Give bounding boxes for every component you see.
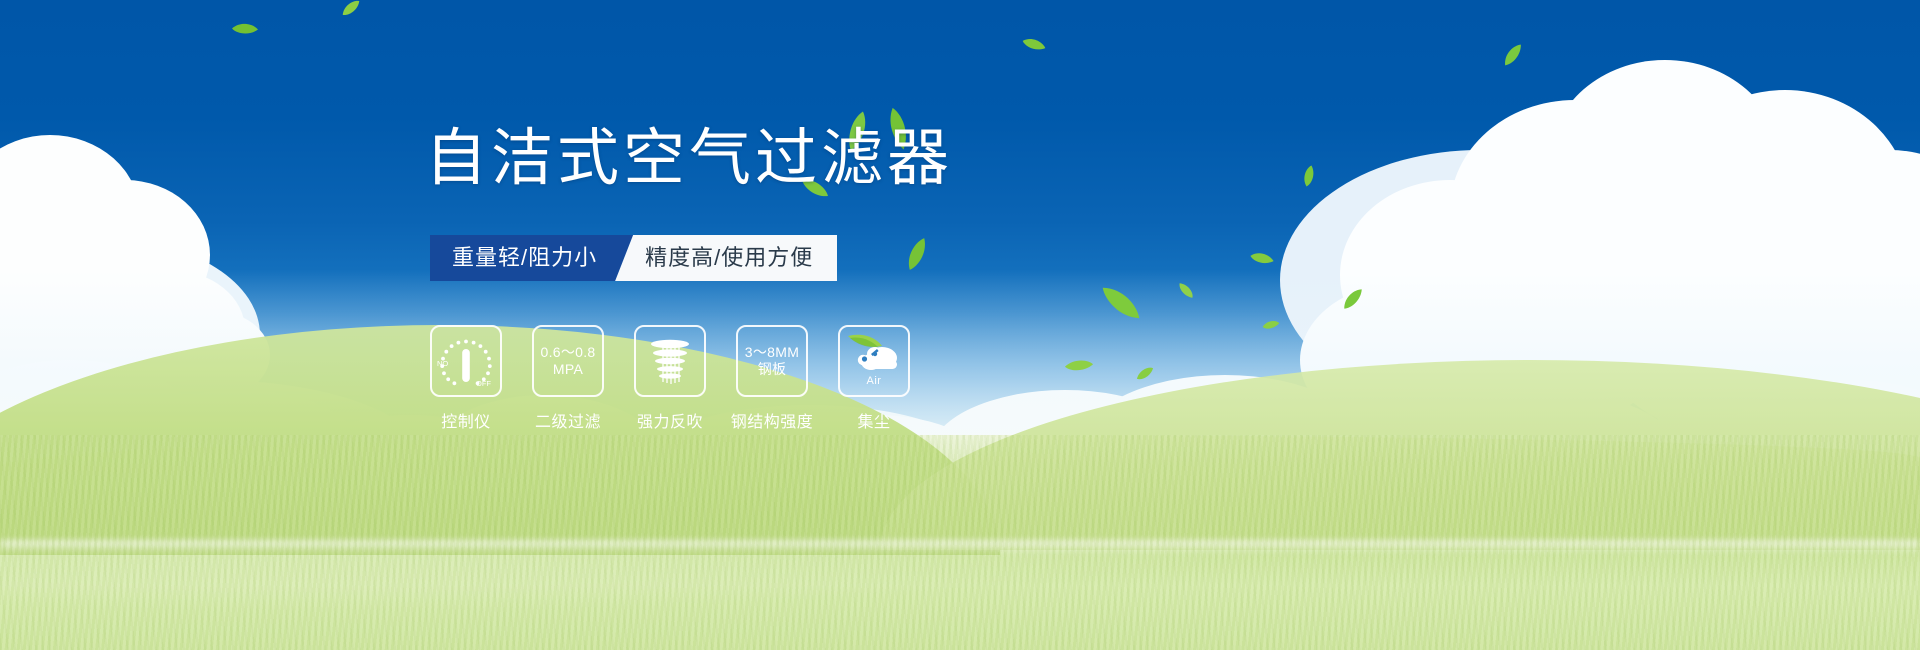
steel-thickness: 3～8MM bbox=[745, 344, 799, 361]
feature-item-pressure[interactable]: 0.6～0.8 MPA 二级过滤 bbox=[532, 325, 604, 432]
feature-item-dust[interactable]: Air 集尘 bbox=[838, 325, 910, 432]
tagline-secondary: 精度高/使用方便 bbox=[615, 235, 837, 281]
filter-cartridge-icon bbox=[634, 325, 706, 397]
page-title: 自洁式空气过滤器 bbox=[425, 128, 953, 190]
feature-item-steel[interactable]: 3～8MM 钢板 钢结构强度 bbox=[736, 325, 808, 432]
air-cloud-icon: Air bbox=[838, 325, 910, 397]
feature-icon-list: NO OFF 控制仪 0.6～0.8 MPA 二级过滤 bbox=[430, 325, 910, 432]
air-label: Air bbox=[840, 375, 908, 387]
steel-plate-text-icon: 3～8MM 钢板 bbox=[736, 325, 808, 397]
feature-caption: 强力反吹 bbox=[637, 408, 703, 432]
feature-caption: 二级过滤 bbox=[535, 408, 601, 432]
pressure-unit: MPA bbox=[553, 361, 583, 378]
gauge-dial-icon: NO OFF bbox=[430, 325, 502, 397]
banner-content: 自洁式空气过滤器 重量轻/阻力小 精度高/使用方便 bbox=[0, 0, 1920, 650]
feature-caption: 集尘 bbox=[857, 408, 890, 432]
feature-item-control-gauge[interactable]: NO OFF 控制仪 bbox=[430, 325, 502, 432]
tagline-primary: 重量轻/阻力小 bbox=[430, 235, 633, 281]
feature-item-backblow[interactable]: 强力反吹 bbox=[634, 325, 706, 432]
gauge-label-off: OFF bbox=[476, 379, 491, 388]
feature-caption: 控制仪 bbox=[441, 408, 491, 432]
product-banner: 自洁式空气过滤器 重量轻/阻力小 精度高/使用方便 bbox=[0, 0, 1920, 650]
pressure-range: 0.6～0.8 bbox=[540, 344, 595, 361]
gauge-label-on: NO bbox=[437, 359, 448, 368]
feature-caption: 钢结构强度 bbox=[731, 408, 814, 432]
pressure-text-icon: 0.6～0.8 MPA bbox=[532, 325, 604, 397]
steel-material: 钢板 bbox=[758, 361, 787, 378]
tagline-bar: 重量轻/阻力小 精度高/使用方便 bbox=[430, 235, 837, 281]
